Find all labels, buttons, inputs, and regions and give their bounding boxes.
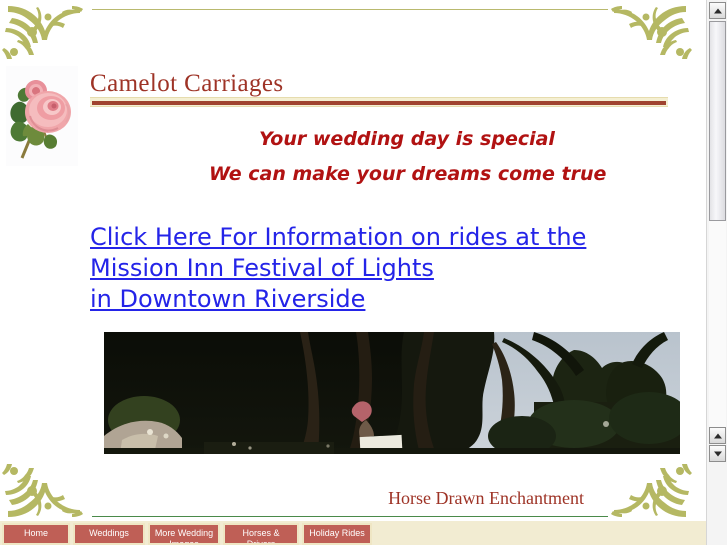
scroll-up-button[interactable] xyxy=(709,427,726,444)
festival-link-line-2: Mission Inn Festival of Lights xyxy=(90,253,462,284)
corner-ornament-top-right-icon xyxy=(596,2,692,64)
bottom-navigation-bar: Home Weddings More Wedding Images Horses… xyxy=(0,521,706,545)
tagline-primary: Your wedding day is special xyxy=(259,128,555,150)
triangle-down-icon xyxy=(714,451,722,456)
corner-ornament-bottom-left-icon xyxy=(2,459,98,521)
title-divider-bar xyxy=(90,97,668,107)
scrollbar-thumb[interactable] xyxy=(709,21,726,221)
nav-button-weddings[interactable]: Weddings xyxy=(73,523,145,545)
page-title: Camelot Carriages xyxy=(90,70,284,98)
page-canvas: Camelot Carriages Your wedding day is sp… xyxy=(0,0,706,545)
triangle-up-icon xyxy=(714,433,722,438)
tagline-secondary: We can make your dreams come true xyxy=(209,163,606,185)
nav-button-more-wedding-images[interactable]: More Wedding Images xyxy=(148,523,220,545)
pink-rose-image xyxy=(6,66,78,166)
triangle-up-icon xyxy=(714,8,722,13)
festival-link-line-1: Click Here For Information on rides at t… xyxy=(90,222,629,253)
nav-button-holiday-rides[interactable]: Holiday Rides xyxy=(302,523,372,545)
bottom-divider-rule xyxy=(92,516,608,517)
nav-button-horses-and-drivers[interactable]: Horses & Drivers xyxy=(223,523,299,545)
nav-button-home[interactable]: Home xyxy=(2,523,70,545)
corner-ornament-bottom-right-icon xyxy=(596,459,692,521)
scroll-up-button-top[interactable] xyxy=(709,2,726,19)
top-divider-rule xyxy=(92,9,608,10)
scrollbar-track[interactable] xyxy=(709,221,726,427)
corner-ornament-top-left-icon xyxy=(2,2,98,64)
festival-link-line-3: in Downtown Riverside xyxy=(90,284,387,315)
festival-of-lights-link[interactable]: Click Here For Information on rides at t… xyxy=(90,222,650,315)
vertical-scrollbar[interactable] xyxy=(706,0,727,545)
scroll-down-button[interactable] xyxy=(709,445,726,462)
carriage-under-trees-photo xyxy=(104,332,680,454)
footer-slogan: Horse Drawn Enchantment xyxy=(388,488,584,509)
